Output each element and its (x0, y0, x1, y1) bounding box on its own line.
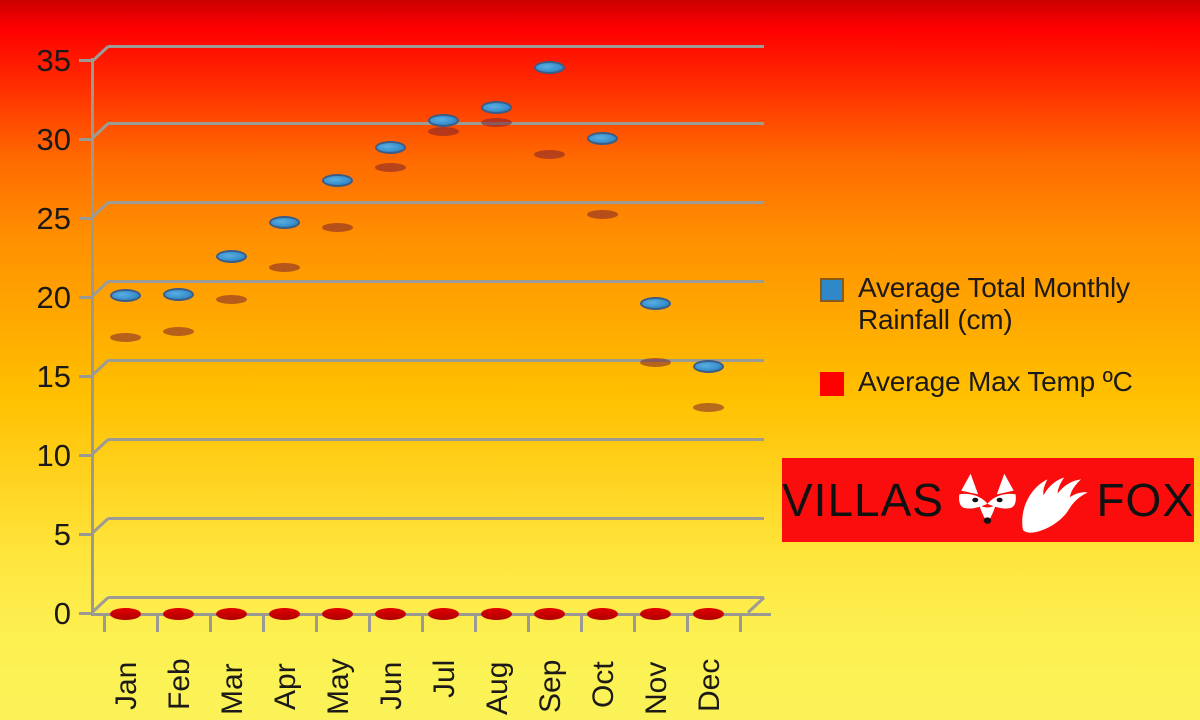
legend: Average Total Monthly Rainfall (cm) Aver… (820, 272, 1190, 420)
bar-rainfall-oct (587, 138, 618, 215)
x-tick-8 (527, 616, 530, 632)
y-tick-25 (79, 217, 93, 220)
y-tick-35 (79, 59, 93, 62)
bar-rainfall-jan (110, 295, 141, 338)
x-tick-10 (633, 616, 636, 632)
y-tick-label-20: 20 (15, 282, 71, 313)
x-tick-label-oct: Oct (589, 661, 619, 708)
x-tick-5 (368, 616, 371, 632)
y-tick-5 (79, 533, 93, 536)
legend-swatch-rainfall-icon (820, 278, 844, 302)
x-tick-3 (262, 616, 265, 632)
bar-temp-dec (693, 408, 724, 614)
x-tick-9 (580, 616, 583, 632)
bar-rainfall-mar (216, 256, 247, 300)
y-tick-label-30: 30 (15, 124, 71, 155)
x-tick-label-nov: Nov (642, 662, 672, 715)
y-tick-15 (79, 375, 93, 378)
bar-rainfall-dec (693, 366, 724, 408)
bar-rainfall-aug (481, 107, 512, 123)
bar-temp-jul (428, 132, 459, 614)
logo-word-fox: FOX (1096, 473, 1194, 527)
y-tick-label-25: 25 (15, 203, 71, 234)
x-tick-label-sep: Sep (536, 660, 566, 713)
bar-temp-jan (110, 338, 141, 614)
y-tick-20 (79, 296, 93, 299)
y-tick-label-15: 15 (15, 361, 71, 392)
y-tick-label-5: 5 (15, 519, 71, 550)
gridline-35 (108, 45, 764, 48)
bar-temp-sep (534, 155, 565, 614)
bar-rainfall-may (322, 180, 353, 228)
y-tick-label-10: 10 (15, 440, 71, 471)
bar-temp-may (322, 228, 353, 614)
x-tick-label-dec: Dec (695, 659, 725, 712)
x-tick-6 (421, 616, 424, 632)
bar-temp-jun (375, 168, 406, 614)
bar-rainfall-sep (534, 67, 565, 155)
x-tick-label-feb: Feb (165, 658, 195, 710)
x-tick-label-jul: Jul (430, 660, 460, 698)
climate-chart: 35 30 25 20 15 10 5 0 (0, 0, 1200, 720)
x-tick-11 (686, 616, 689, 632)
y-tick-label-0: 0 (15, 598, 71, 629)
bar-temp-nov (640, 363, 671, 614)
bar-rainfall-jun (375, 147, 406, 168)
legend-label-temperature: Average Max Temp ºC (858, 366, 1133, 398)
bar-temp-apr (269, 268, 300, 614)
legend-item-rainfall[interactable]: Average Total Monthly Rainfall (cm) (820, 272, 1190, 336)
y-tick-30 (79, 138, 93, 141)
bar-temp-oct (587, 215, 618, 614)
bar-rainfall-jul (428, 120, 459, 132)
legend-swatch-temperature-icon (820, 372, 844, 396)
logo-word-villas: VILLAS (782, 473, 944, 527)
x-tick-1 (156, 616, 159, 632)
x-tick-label-jun: Jun (377, 662, 407, 710)
y-tick-label-35: 35 (15, 45, 71, 76)
bar-temp-feb (163, 332, 194, 614)
x-tick-4 (315, 616, 318, 632)
fox-head-and-tail-icon (950, 464, 1090, 536)
legend-item-temperature[interactable]: Average Max Temp ºC (820, 366, 1190, 398)
x-tick-2 (209, 616, 212, 632)
x-tick-label-jan: Jan (112, 662, 142, 710)
y-tick-0 (79, 612, 93, 615)
x-tick-0 (103, 616, 106, 632)
x-tick-7 (474, 616, 477, 632)
legend-label-rainfall: Average Total Monthly Rainfall (cm) (858, 272, 1190, 336)
villas-fox-logo[interactable]: VILLAS FOX (782, 458, 1194, 542)
bar-temp-mar (216, 300, 247, 614)
x-tick-label-apr: Apr (271, 663, 301, 710)
bar-rainfall-feb (163, 294, 194, 332)
bar-rainfall-apr (269, 222, 300, 268)
x-tick-label-aug: Aug (483, 662, 513, 715)
x-tick-label-may: May (324, 658, 354, 715)
bar-rainfall-nov (640, 303, 671, 363)
bar-temp-aug (481, 123, 512, 614)
y-tick-10 (79, 454, 93, 457)
x-tick-label-mar: Mar (218, 663, 248, 715)
x-tick-12 (739, 616, 742, 632)
